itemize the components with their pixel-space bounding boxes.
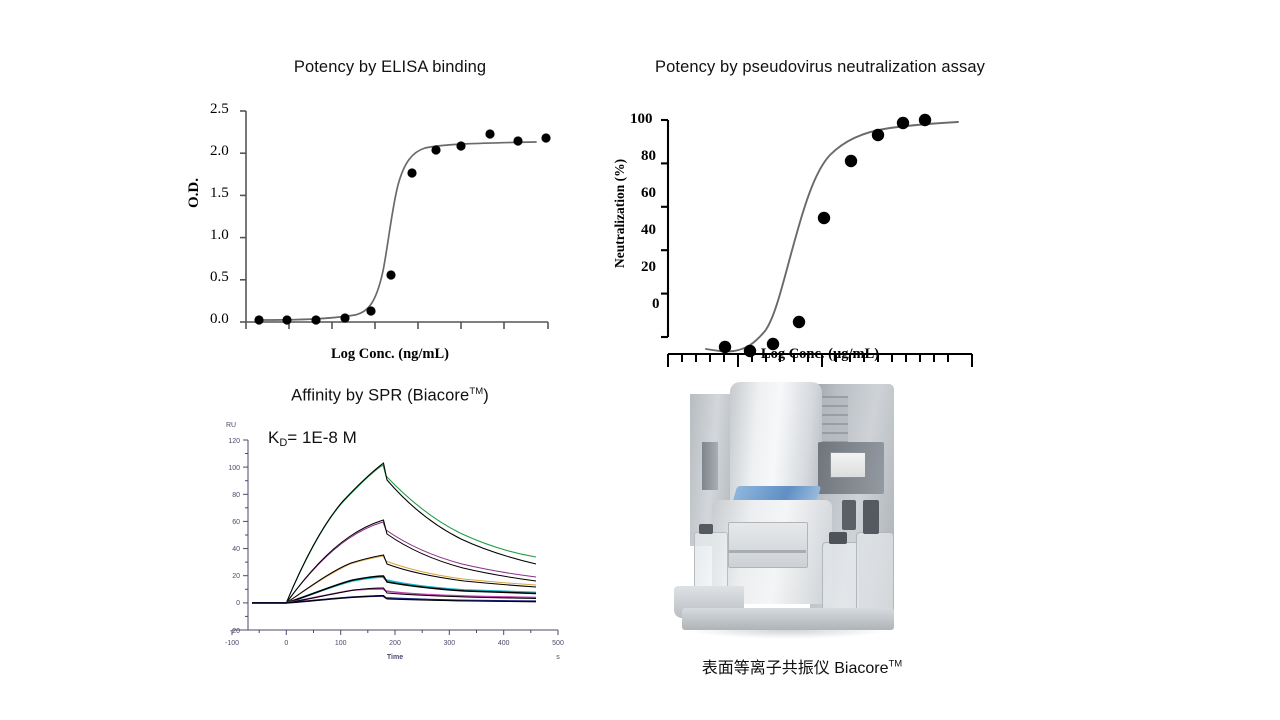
spr-y-tick-labels: 120 100 80 60 40 20 0 -20	[228, 438, 240, 635]
elisa-fit-curve	[260, 142, 536, 320]
panel-instrument-photo: 表面等离子共振仪 BiacoreTM	[672, 382, 932, 682]
spr-title: Affinity by SPR (BiacoreTM)	[190, 386, 590, 406]
instrument-front-drawer	[728, 522, 808, 568]
neutralization-x-axis-label: Log Conc. (μg/mL)	[600, 346, 1040, 363]
spr-title-tm: TM	[469, 386, 483, 397]
spr-fit-conc-3	[252, 555, 536, 603]
svg-text:500: 500	[552, 640, 564, 647]
svg-text:120: 120	[228, 438, 240, 445]
spr-x-tick-labels: -100 0 100 200 300 400 500	[225, 640, 564, 647]
svg-text:400: 400	[498, 640, 510, 647]
instrument-caption-text: 表面等离子共振仪 Biacore	[702, 660, 889, 677]
svg-text:100: 100	[228, 465, 240, 472]
svg-text:200: 200	[389, 640, 401, 647]
biacore-instrument-image	[672, 382, 922, 650]
instrument-drawer-handle	[728, 550, 806, 553]
svg-text:20: 20	[232, 573, 240, 580]
elisa-y-ticks	[240, 111, 246, 322]
instrument-tubing-block	[842, 500, 856, 530]
elisa-title: Potency by ELISA binding	[180, 58, 600, 77]
instrument-caption-tm: TM	[888, 659, 902, 670]
elisa-plot	[180, 88, 600, 378]
neut-fit-curve	[706, 122, 958, 351]
svg-text:300: 300	[443, 640, 455, 647]
instrument-display-screen	[830, 452, 866, 478]
instrument-base-plinth	[682, 608, 894, 630]
neut-data-points	[719, 114, 931, 357]
svg-text:-100: -100	[225, 640, 239, 647]
spr-y-ticks	[243, 440, 248, 630]
svg-text:100: 100	[335, 640, 347, 647]
instrument-bottle-right-cap	[863, 500, 879, 534]
neutralization-title: Potency by pseudovirus neutralization as…	[600, 58, 1040, 77]
spr-x-axis-label: Time	[387, 654, 403, 661]
spr-x-ticks	[232, 630, 558, 635]
instrument-bottle-right	[856, 532, 894, 620]
neutralization-plot	[600, 88, 1040, 378]
svg-text:0: 0	[236, 600, 240, 607]
svg-text:80: 80	[232, 492, 240, 499]
svg-text:60: 60	[232, 519, 240, 526]
instrument-bottle-center-cap	[829, 532, 847, 544]
svg-text:-20: -20	[230, 628, 240, 635]
svg-text:0: 0	[284, 640, 288, 647]
panel-neutralization: Potency by pseudovirus neutralization as…	[600, 58, 1040, 368]
spr-x-unit-label: s	[556, 654, 560, 661]
elisa-x-ticks	[246, 322, 548, 329]
spr-title-tail: )	[483, 387, 489, 405]
instrument-caption: 表面等离子共振仪 BiacoreTM	[642, 654, 962, 678]
slide-canvas: Potency by ELISA binding O.D. 2.5 2.0 1.…	[0, 0, 1280, 720]
spr-title-main: Affinity by SPR (Biacore	[291, 387, 469, 405]
elisa-data-points	[254, 129, 550, 324]
elisa-x-axis-label: Log Conc. (ng/mL)	[180, 346, 600, 363]
instrument-shadow	[688, 630, 888, 639]
spr-sensorgram-plot: RU 120 100 80 60 40 20 0	[190, 414, 590, 674]
instrument-left-slot	[702, 442, 718, 490]
panel-elisa: Potency by ELISA binding O.D. 2.5 2.0 1.…	[180, 58, 600, 368]
instrument-vent-slots	[822, 396, 848, 448]
spr-trace-conc-3	[252, 556, 536, 603]
panel-spr: Affinity by SPR (BiacoreTM) KD= 1E-8 M R…	[190, 386, 590, 686]
svg-text:40: 40	[232, 546, 240, 553]
spr-y-unit-label: RU	[226, 422, 236, 429]
instrument-bottle-left-cap	[699, 524, 713, 534]
spr-traces	[252, 463, 536, 603]
